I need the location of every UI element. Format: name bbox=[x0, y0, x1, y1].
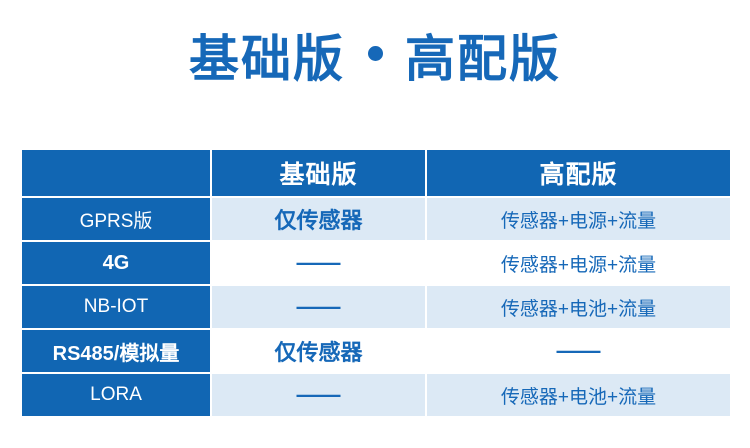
page-root: 基础版 高配版 基础版 高配版 GPRS版 仅传感器 传感器+电源+流量 bbox=[0, 0, 750, 448]
cell-basic-gprs: 仅传感器 bbox=[211, 197, 426, 241]
table-row: RS485/模拟量 仅传感器 —— bbox=[21, 329, 731, 373]
row-label-rs485: RS485/模拟量 bbox=[21, 329, 211, 373]
table-row: 4G —— 传感器+电源+流量 bbox=[21, 241, 731, 285]
title-right-text: 高配版 bbox=[405, 34, 561, 84]
cell-premium-lora: 传感器+电池+流量 bbox=[426, 373, 731, 417]
comparison-table-wrapper: 基础版 高配版 GPRS版 仅传感器 传感器+电源+流量 4G —— 传感器+电… bbox=[20, 148, 730, 418]
row-label-nbiot: NB-IOT bbox=[21, 285, 211, 329]
row-label-gprs: GPRS版 bbox=[21, 197, 211, 241]
row-label-4g: 4G bbox=[21, 241, 211, 285]
cell-basic-rs485: 仅传感器 bbox=[211, 329, 426, 373]
comparison-table: 基础版 高配版 GPRS版 仅传感器 传感器+电源+流量 4G —— 传感器+电… bbox=[20, 148, 732, 418]
table-header-cell-basic: 基础版 bbox=[211, 149, 426, 197]
cell-premium-gprs: 传感器+电源+流量 bbox=[426, 197, 731, 241]
cell-premium-rs485: —— bbox=[426, 329, 731, 373]
table-header-row: 基础版 高配版 bbox=[21, 149, 731, 197]
bullet-dot-icon bbox=[368, 46, 383, 61]
table-row: LORA —— 传感器+电池+流量 bbox=[21, 373, 731, 417]
table-header-cell-premium: 高配版 bbox=[426, 149, 731, 197]
title-left-text: 基础版 bbox=[189, 34, 345, 84]
cell-premium-4g: 传感器+电源+流量 bbox=[426, 241, 731, 285]
cell-basic-4g: —— bbox=[211, 241, 426, 285]
page-title: 基础版 高配版 bbox=[0, 34, 750, 84]
table-header-cell-empty bbox=[21, 149, 211, 197]
table-row: NB-IOT —— 传感器+电池+流量 bbox=[21, 285, 731, 329]
cell-premium-nbiot: 传感器+电池+流量 bbox=[426, 285, 731, 329]
table-row: GPRS版 仅传感器 传感器+电源+流量 bbox=[21, 197, 731, 241]
row-label-lora: LORA bbox=[21, 373, 211, 417]
cell-basic-nbiot: —— bbox=[211, 285, 426, 329]
cell-basic-lora: —— bbox=[211, 373, 426, 417]
